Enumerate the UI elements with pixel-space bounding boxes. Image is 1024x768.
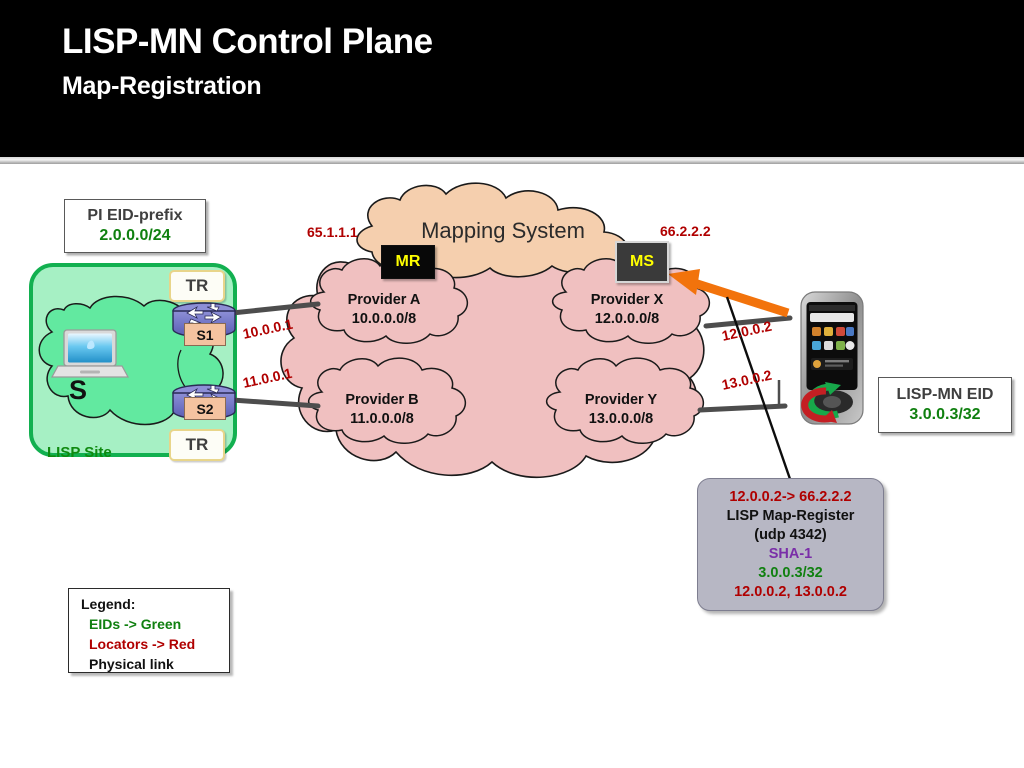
- pi-eid-prefix-box: PI EID-prefix 2.0.0.0/24: [64, 199, 206, 253]
- smartphone-icon: [801, 292, 863, 424]
- site-host-label: S: [69, 375, 87, 406]
- map-resolver-node: MR: [381, 245, 435, 279]
- lisp-site-label: LISP Site: [47, 444, 112, 461]
- legend-item-physical-link: Physical link: [81, 655, 229, 675]
- provider-x-label: Provider X 12.0.0.0/8: [553, 291, 701, 329]
- router-tag-s2: S2: [184, 397, 226, 420]
- callout-message: LISP Map-Register: [727, 507, 855, 525]
- tunnel-router-top-label: TR: [169, 270, 225, 302]
- provider-a-prefix: 10.0.0.0/8: [310, 310, 458, 329]
- provider-y-prefix: 13.0.0.0/8: [547, 410, 695, 429]
- pi-eid-prefix-value: 2.0.0.0/24: [99, 226, 170, 245]
- pi-eid-prefix-title: PI EID-prefix: [87, 207, 182, 225]
- provider-y-label: Provider Y 13.0.0.0/8: [547, 391, 695, 429]
- callout-auth: SHA-1: [769, 545, 813, 563]
- provider-b-prefix: 11.0.0.0/8: [308, 410, 456, 429]
- provider-a-name: Provider A: [310, 291, 458, 310]
- lisp-mn-eid-box: LISP-MN EID 3.0.0.3/32: [878, 377, 1012, 433]
- tunnel-router-bottom-label: TR: [169, 429, 225, 461]
- legend-heading: Legend:: [81, 595, 229, 615]
- lisp-mn-eid-value: 3.0.0.3/32: [909, 405, 980, 424]
- callout-rloc-record: 12.0.0.2, 13.0.0.2: [734, 583, 847, 601]
- provider-b-label: Provider B 11.0.0.0/8: [308, 391, 456, 429]
- router-tag-s1: S1: [184, 323, 226, 346]
- legend-item-eids: EIDs -> Green: [81, 615, 229, 635]
- link-providery-mn: [700, 406, 785, 410]
- callout-transport: (udp 4342): [754, 526, 827, 544]
- provider-x-prefix: 12.0.0.0/8: [553, 310, 701, 329]
- map-server-node: MS: [615, 241, 669, 283]
- provider-x-name: Provider X: [553, 291, 701, 310]
- legend: Legend: EIDs -> Green Locators -> Red Ph…: [68, 588, 230, 673]
- slide-canvas: LISP-MN Control Plane Map-Registration: [0, 0, 1024, 768]
- laptop-icon: [52, 330, 128, 377]
- mr-address-label: 65.1.1.1: [307, 224, 358, 240]
- callout-eid-record: 3.0.0.3/32: [758, 564, 823, 582]
- mapping-system-title: Mapping System: [413, 218, 593, 244]
- callout-header: 12.0.0.2-> 66.2.2.2: [729, 488, 851, 506]
- provider-y-name: Provider Y: [547, 391, 695, 410]
- ms-address-label: 66.2.2.2: [660, 223, 711, 239]
- legend-item-locators: Locators -> Red: [81, 635, 229, 655]
- provider-b-name: Provider B: [308, 391, 456, 410]
- provider-a-label: Provider A 10.0.0.0/8: [310, 291, 458, 329]
- map-register-callout: 12.0.0.2-> 66.2.2.2 LISP Map-Register (u…: [697, 478, 884, 611]
- lisp-mn-eid-title: LISP-MN EID: [897, 386, 994, 404]
